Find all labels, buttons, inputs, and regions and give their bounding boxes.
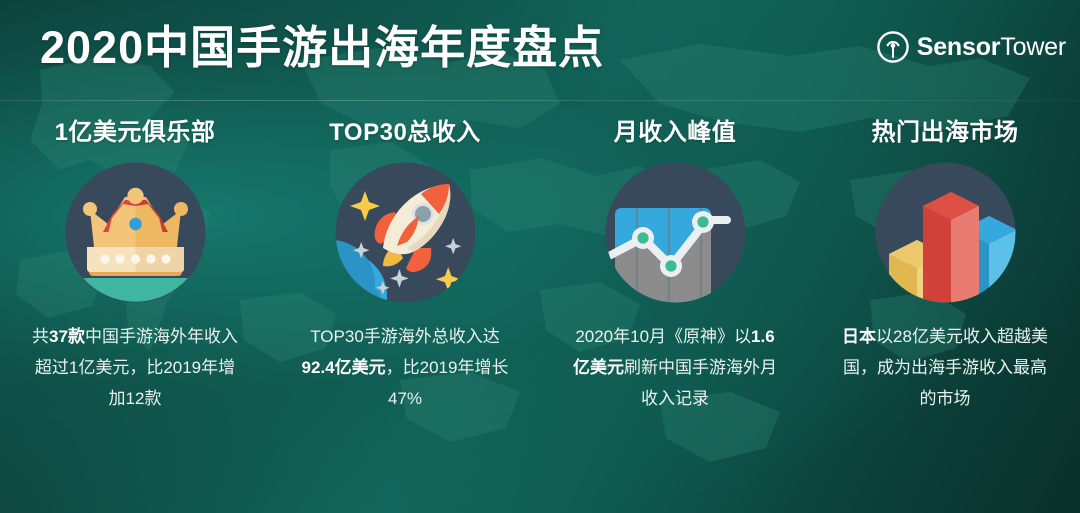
stat-body-1-pre: 共 [32,327,49,346]
crown-icon [63,160,208,305]
stat-title-2: TOP30总收入 [329,118,481,148]
stat-body-3-pre: 2020年10月《原神》以 [575,327,751,346]
stat-body-1-highlight: 37款 [49,327,85,346]
infographic-canvas: 2020中国手游出海年度盘点 SensorTower 1亿美元俱乐部 [0,0,1080,513]
stat-column-1: 1亿美元俱乐部 [0,118,270,513]
stats-columns: 1亿美元俱乐部 [0,118,1080,513]
stat-body-4-highlight: 日本 [842,327,876,346]
stat-body-2-post: ，比2019年增长47% [386,358,509,408]
stat-body-1: 共37款中国手游海外年收入超过1亿美元，比2019年增加12款 [28,321,243,414]
rocket-icon [333,160,478,305]
stat-body-3-post: 刷新中国手游海外月收入记录 [624,358,777,408]
sensortower-logo[interactable]: SensorTower [876,30,1066,64]
stat-body-4: 日本以28亿美元收入超越美国，成为出海手游收入最高的市场 [838,321,1053,414]
logo-light-text: Tower [1000,33,1066,61]
bar-chart-icon [873,160,1018,305]
page-title: 2020中国手游出海年度盘点 [40,19,604,77]
sensortower-wordmark: SensorTower [917,35,1066,60]
header: 2020中国手游出海年度盘点 SensorTower [0,0,1080,100]
stat-title-3: 月收入峰值 [614,118,737,148]
stat-column-2: TOP30总收入 [270,118,540,513]
stat-title-1: 1亿美元俱乐部 [55,118,216,148]
stat-column-3: 月收入峰值 [540,118,810,513]
stat-body-2: TOP30手游海外总收入达92.4亿美元，比2019年增长47% [298,321,513,414]
stat-body-2-pre: TOP30手游海外总收入达 [310,327,500,346]
stat-title-4: 热门出海市场 [872,118,1019,148]
stat-column-4: 热门出海市场 [810,118,1080,513]
line-chart-icon [603,160,748,305]
sensortower-antenna-icon [876,30,910,64]
stat-body-2-highlight: 92.4亿美元 [302,358,386,377]
stat-body-3: 2020年10月《原神》以1.6亿美元刷新中国手游海外月收入记录 [568,321,783,414]
logo-bold-text: Sensor [917,33,1001,61]
